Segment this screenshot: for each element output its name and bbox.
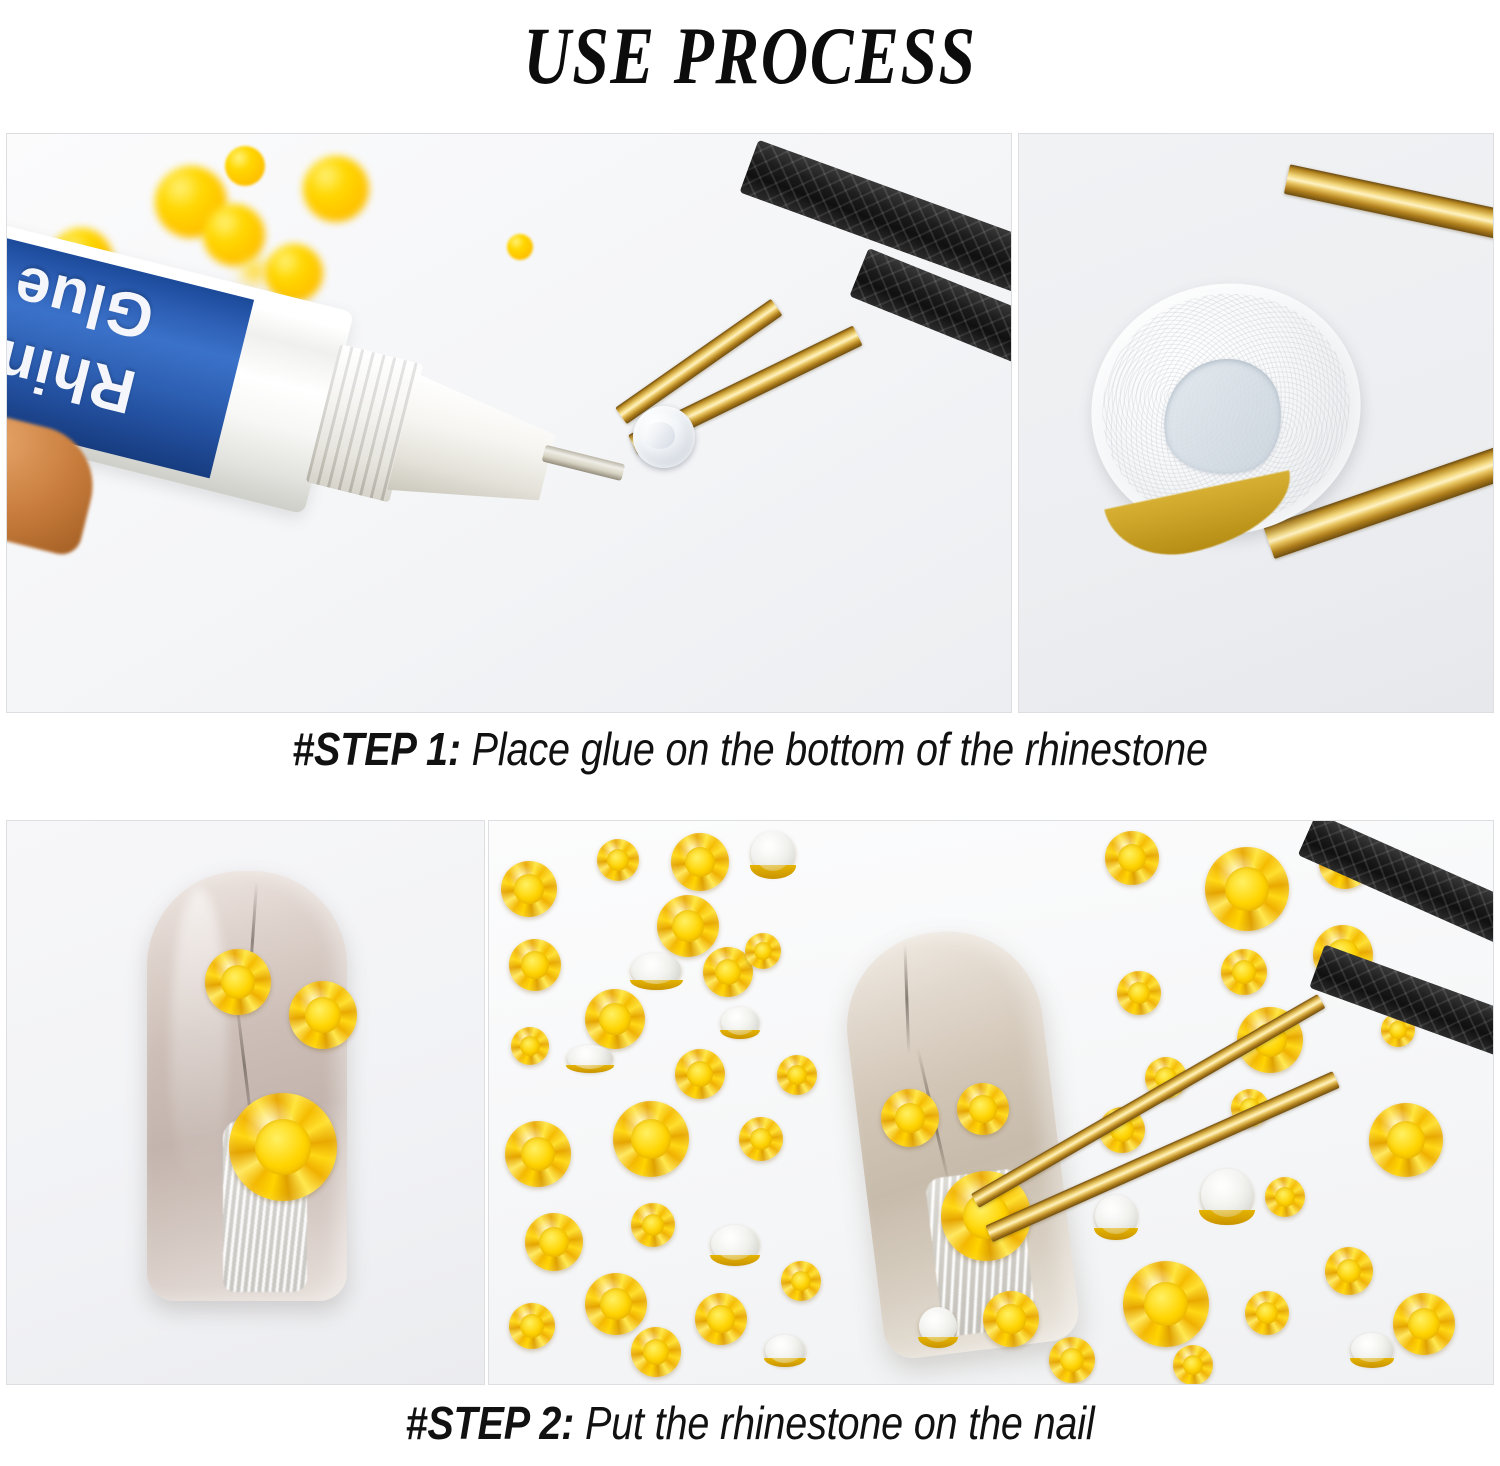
scattered-rhinestone-back bbox=[765, 1335, 805, 1365]
scattered-rhinestone bbox=[1325, 1247, 1373, 1295]
page-title: USE PROCESS bbox=[150, 0, 1350, 120]
scattered-rhinestone bbox=[675, 1049, 725, 1099]
rhinestone-glue-bottle: Glue Rhin bbox=[6, 208, 655, 610]
scattered-rhinestone-back bbox=[631, 953, 681, 987]
glue-bottle-cone bbox=[387, 373, 562, 526]
bokeh-bead bbox=[243, 260, 265, 282]
scattered-rhinestone bbox=[509, 1303, 555, 1349]
panel-3-background bbox=[7, 821, 484, 1384]
scattered-rhinestone bbox=[509, 939, 561, 991]
scattered-rhinestone bbox=[739, 1117, 783, 1161]
finished-nail-photo bbox=[6, 820, 485, 1385]
scattered-rhinestone bbox=[1221, 949, 1267, 995]
scattered-rhinestone bbox=[525, 1213, 583, 1271]
glue-applied-to-rhinestone-photo: Glue Rhin bbox=[6, 133, 1012, 713]
step-1-panel-row: Glue Rhin bbox=[0, 133, 1500, 713]
scattered-rhinestone bbox=[777, 1055, 817, 1095]
scattered-rhinestone bbox=[1049, 1337, 1095, 1383]
tweezer-grip-lower bbox=[1309, 944, 1494, 1080]
panel-1-background: Glue Rhin bbox=[7, 134, 1011, 712]
nail-rhinestone bbox=[957, 1083, 1009, 1135]
bokeh-bead bbox=[507, 234, 533, 260]
scattered-rhinestone bbox=[671, 833, 729, 891]
glue-bottle-metal-tip bbox=[542, 445, 626, 481]
scattered-rhinestone bbox=[657, 895, 719, 957]
decorated-nail bbox=[147, 871, 347, 1301]
step-2-caption: #STEP 2: Put the rhinestone on the nail bbox=[105, 1396, 1395, 1450]
scattered-rhinestone bbox=[631, 1327, 681, 1377]
scattered-rhinestone bbox=[505, 1121, 571, 1187]
scattered-rhinestone bbox=[585, 1273, 647, 1335]
tweezer-arm-upper bbox=[1284, 164, 1494, 256]
step-1-label: #STEP 1: bbox=[292, 723, 461, 775]
scattered-rhinestone bbox=[1105, 831, 1159, 885]
scattered-rhinestone bbox=[511, 1027, 549, 1065]
nail-vein bbox=[903, 944, 910, 1054]
scattered-rhinestone-back bbox=[1201, 1169, 1253, 1221]
scattered-rhinestone-back bbox=[721, 1007, 759, 1037]
nail-rhinestone bbox=[881, 1089, 939, 1147]
panel-4-background bbox=[489, 821, 1493, 1384]
scattered-rhinestone bbox=[1245, 1291, 1289, 1335]
scattered-rhinestone bbox=[1205, 847, 1289, 931]
scattered-rhinestone bbox=[781, 1261, 821, 1301]
scattered-rhinestone bbox=[1173, 1345, 1213, 1385]
nail-rhinestone-small bbox=[205, 949, 271, 1015]
step-2-text: Put the rhinestone on the nail bbox=[574, 1397, 1094, 1449]
scattered-rhinestone-back bbox=[567, 1045, 613, 1071]
scattered-rhinestone bbox=[1265, 1177, 1305, 1217]
scattered-rhinestone bbox=[745, 933, 781, 969]
bokeh-bead bbox=[203, 204, 265, 266]
scattered-rhinestone bbox=[1369, 1103, 1443, 1177]
scattered-rhinestone bbox=[695, 1293, 747, 1345]
scattered-rhinestone bbox=[1393, 1293, 1455, 1355]
nail-being-decorated bbox=[836, 921, 1082, 1362]
scattered-rhinestone bbox=[613, 1101, 689, 1177]
nail-sheen bbox=[171, 888, 227, 1189]
scattered-rhinestone bbox=[1117, 971, 1161, 1015]
nail-rhinestone-large bbox=[229, 1093, 337, 1201]
bokeh-bead bbox=[303, 156, 369, 222]
step-2-label: #STEP 2: bbox=[406, 1397, 575, 1449]
step-1-caption: #STEP 1: Place glue on the bottom of the… bbox=[105, 722, 1395, 776]
scattered-rhinestone bbox=[983, 1291, 1039, 1347]
scattered-rhinestone bbox=[1123, 1261, 1209, 1347]
placing-rhinestone-photo bbox=[488, 820, 1494, 1385]
bokeh-bead bbox=[225, 146, 265, 186]
scattered-rhinestone-back bbox=[751, 831, 795, 875]
scattered-rhinestone-back bbox=[1351, 1333, 1393, 1365]
step-1-text: Place glue on the bottom of the rhinesto… bbox=[461, 723, 1208, 775]
scattered-rhinestone-back bbox=[1095, 1195, 1137, 1237]
nail-rhinestone-medium bbox=[289, 981, 357, 1049]
scattered-rhinestone-back bbox=[919, 1307, 957, 1345]
rhinestone-back-closeup-photo bbox=[1018, 133, 1494, 713]
scattered-rhinestone bbox=[597, 839, 639, 881]
scattered-rhinestone bbox=[501, 861, 557, 917]
step-2-panel-row bbox=[0, 820, 1500, 1385]
scattered-rhinestone bbox=[631, 1203, 675, 1247]
scattered-rhinestone bbox=[585, 989, 645, 1049]
scattered-rhinestone-back bbox=[711, 1225, 759, 1263]
panel-2-background bbox=[1019, 134, 1493, 712]
